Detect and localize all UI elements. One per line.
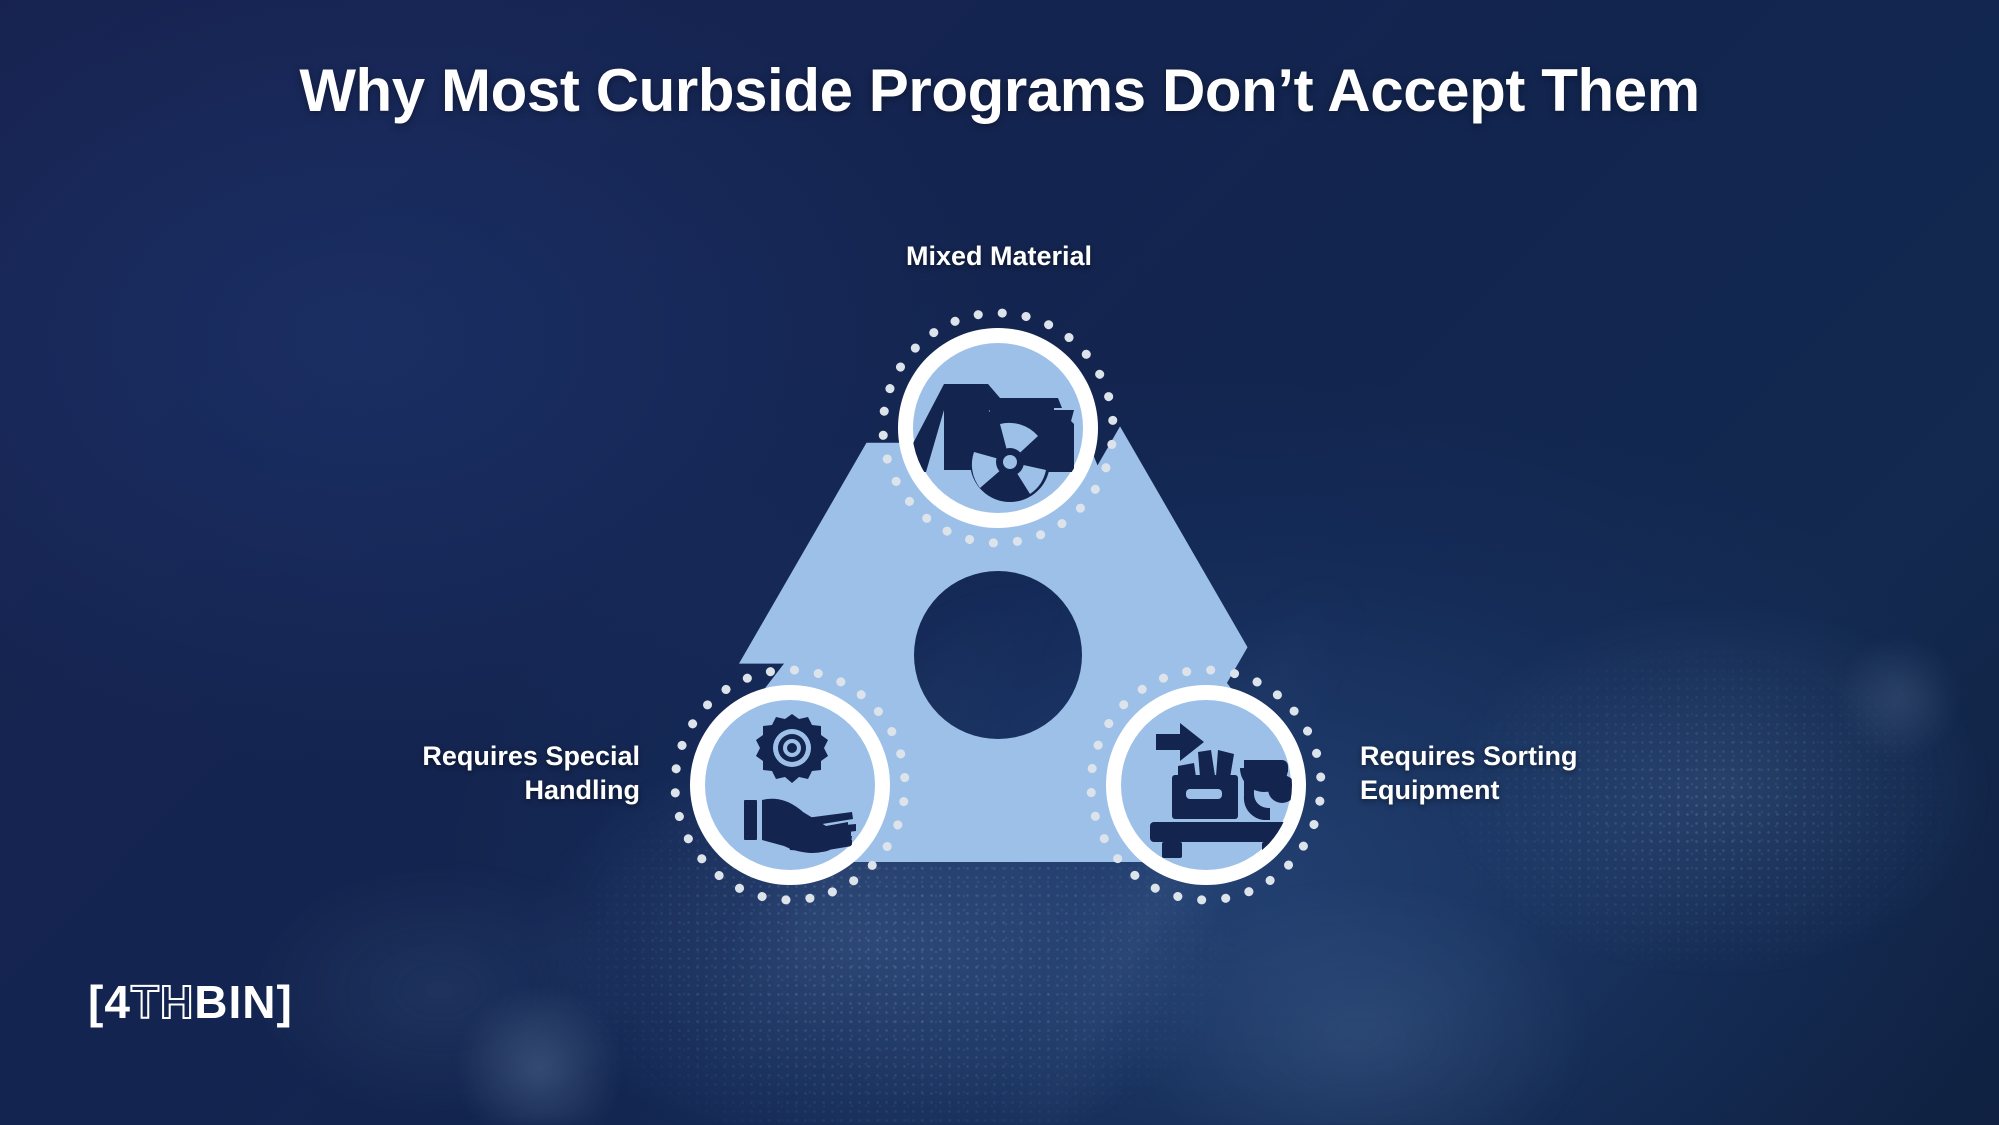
- node-requires-sorting-equipment[interactable]: [1106, 685, 1306, 885]
- logo-close-bracket: ]: [276, 975, 292, 1029]
- node-label-requires-sorting-equipment: Requires Sorting Equipment: [1360, 740, 1720, 808]
- slide-canvas: Why Most Curbside Programs Don’t Accept …: [0, 0, 1999, 1125]
- logo-hollow-text: TH: [131, 975, 194, 1029]
- node-requires-special-handling[interactable]: [690, 685, 890, 885]
- hub-shape: [0, 0, 1999, 1125]
- node-label-requires-special-handling: Requires Special Handling: [300, 740, 640, 808]
- three-lobe-diagram: [0, 0, 1999, 1125]
- logo-numeral: 4: [104, 975, 131, 1029]
- logo-solid-text: BIN: [194, 975, 276, 1029]
- node-mixed-material[interactable]: [898, 328, 1098, 528]
- brand-logo[interactable]: [ 4 TH BIN ]: [88, 975, 293, 1029]
- node-label-mixed-material: Mixed Material: [699, 240, 1299, 274]
- logo-open-bracket: [: [88, 975, 104, 1029]
